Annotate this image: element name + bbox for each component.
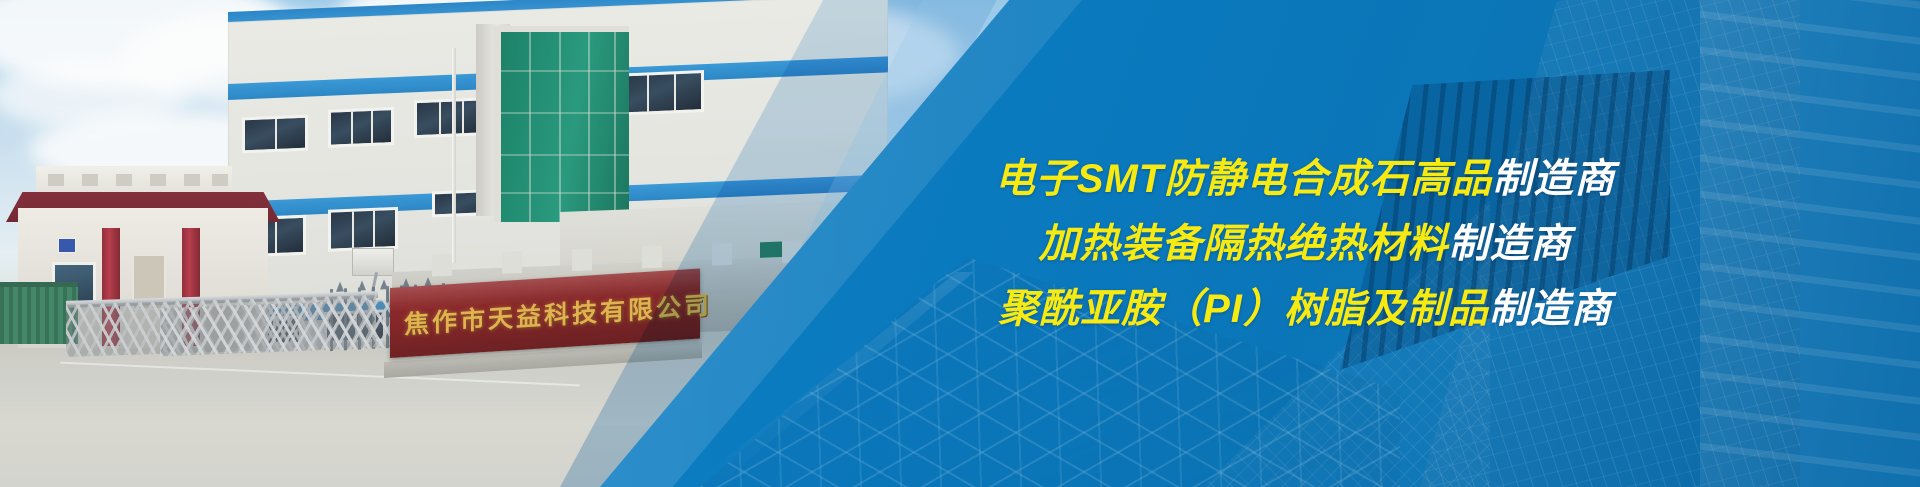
headline-line-1: 电子SMT防静电合成石高品制造商 xyxy=(995,159,1615,199)
promotional-banner: 焦作市天益科技有限公司 xyxy=(0,0,1920,487)
building-window xyxy=(328,207,398,252)
headline-3-highlight: 聚酰亚胺（PI）树脂及制品 xyxy=(998,287,1489,331)
air-conditioner-unit xyxy=(352,248,394,276)
headline-2-highlight: 加热装备隔热绝热材料 xyxy=(1039,222,1449,266)
guard-house-parapet xyxy=(36,166,232,196)
building-window xyxy=(242,115,308,154)
headline-1-highlight: 电子SMT防静电合成石高品 xyxy=(995,157,1492,201)
guard-house-plaque xyxy=(58,238,76,253)
flag-pole xyxy=(452,48,456,263)
headline-2-plain: 制造商 xyxy=(1449,222,1572,266)
headline-3-plain: 制造商 xyxy=(1489,287,1612,331)
building-window xyxy=(328,107,394,148)
headline-1-plain: 制造商 xyxy=(1492,157,1615,201)
headline-group: 电子SMT防静电合成石高品制造商 加热装备隔热绝热材料制造商 聚酰亚胺（PI）树… xyxy=(600,0,1920,487)
headline-line-3: 聚酰亚胺（PI）树脂及制品制造商 xyxy=(998,289,1612,329)
headline-line-2: 加热装备隔热绝热材料制造商 xyxy=(1039,224,1572,264)
